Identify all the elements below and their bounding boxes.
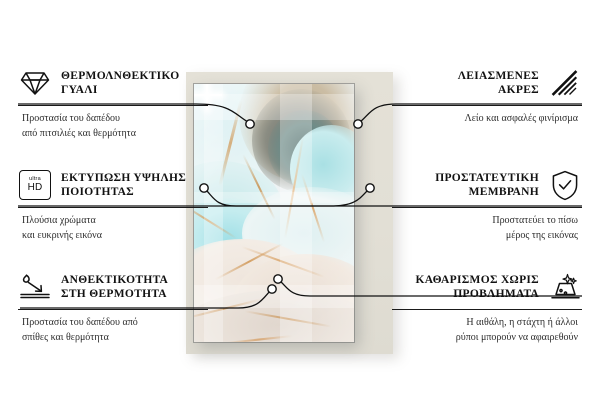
feature-title: ΠΡΟΣΤΑΤΕΥΤΙΚΗ ΜΕΜΒΡΑΝΗ: [435, 171, 539, 200]
infographic-stage: ΘΕΡΜΟΛΝΘΕΚΤΙΚΟ ΓΥΑΛΙ Προστασία του δαπέδ…: [0, 0, 600, 400]
feature-title: ΛΕΙΑΣΜΕΝΕΣ ΑΚΡΕΣ: [458, 69, 539, 98]
easy-clean-sponge-icon: [548, 270, 582, 304]
feature-heat-resistance: ΑΝΘΕΚΤΙΚΟΤΗΤΑ ΣΤΗ ΘΕΡΜΟΤΗΤΑ Προστασία το…: [18, 266, 208, 345]
divider: [392, 105, 582, 106]
feature-description: Προστασία του δαπέδου από σπίθες και θερ…: [18, 316, 208, 345]
feature-title: ΘΕΡΜΟΛΝΘΕΚΤΙΚΟ ΓΥΑΛΙ: [61, 69, 179, 98]
heat-resistance-icon: [18, 270, 52, 304]
feature-description: Προστατεύει το πίσω μέρος της εικόνας: [392, 214, 582, 243]
feature-title: ΚΑΘΑΡΙΣΜΟΣ ΧΩΡΙΣ ΠΡΟΒΛΗΜΑΤΑ: [415, 273, 539, 302]
divider: [18, 207, 208, 208]
feature-polished-edges: ΛΕΙΑΣΜΕΝΕΣ ΑΚΡΕΣ Λείο και ασφαλές φινίρι…: [392, 62, 582, 127]
feature-description: Λείο και ασφαλές φινίρισμα: [392, 112, 582, 127]
diamond-icon: [18, 66, 52, 100]
shield-check-icon: [548, 168, 582, 202]
feature-description: Προστασία του δαπέδου από πιτσιλιές και …: [18, 112, 208, 141]
feature-high-quality-print: ultra HD ΕΚΤΥΠΩΣΗ ΥΨΗΛΗΣ ΠΟΙΟΤΗΤΑΣ Πλούσ…: [18, 164, 208, 243]
divider: [18, 309, 208, 310]
feature-protective-membrane: ΠΡΟΣΤΑΤΕΥΤΙΚΗ ΜΕΜΒΡΑΝΗ Προστατεύει το πί…: [392, 164, 582, 243]
divider: [392, 309, 582, 310]
feature-description: Πλούσια χρώματα και ευκρινής εικόνα: [18, 214, 208, 243]
artwork-abstract-ink: [194, 84, 354, 342]
divider: [18, 105, 208, 106]
feature-title: ΕΚΤΥΠΩΣΗ ΥΨΗΛΗΣ ΠΟΙΟΤΗΤΑΣ: [61, 171, 186, 200]
ultra-hd-icon: ultra HD: [18, 168, 52, 202]
feature-description: Η αιθάλη, η στάχτη ή άλλοι ρύποι μπορούν…: [392, 316, 582, 345]
polished-edges-icon: [548, 66, 582, 100]
divider: [392, 207, 582, 208]
glass-splashback-product: [194, 84, 354, 342]
feature-title: ΑΝΘΕΚΤΙΚΟΤΗΤΑ ΣΤΗ ΘΕΡΜΟΤΗΤΑ: [61, 273, 168, 302]
feature-easy-cleaning: ΚΑΘΑΡΙΣΜΟΣ ΧΩΡΙΣ ΠΡΟΒΛΗΜΑΤΑ Η αι: [392, 266, 582, 345]
feature-thermal-glass: ΘΕΡΜΟΛΝΘΕΚΤΙΚΟ ΓΥΑΛΙ Προστασία του δαπέδ…: [18, 62, 208, 141]
